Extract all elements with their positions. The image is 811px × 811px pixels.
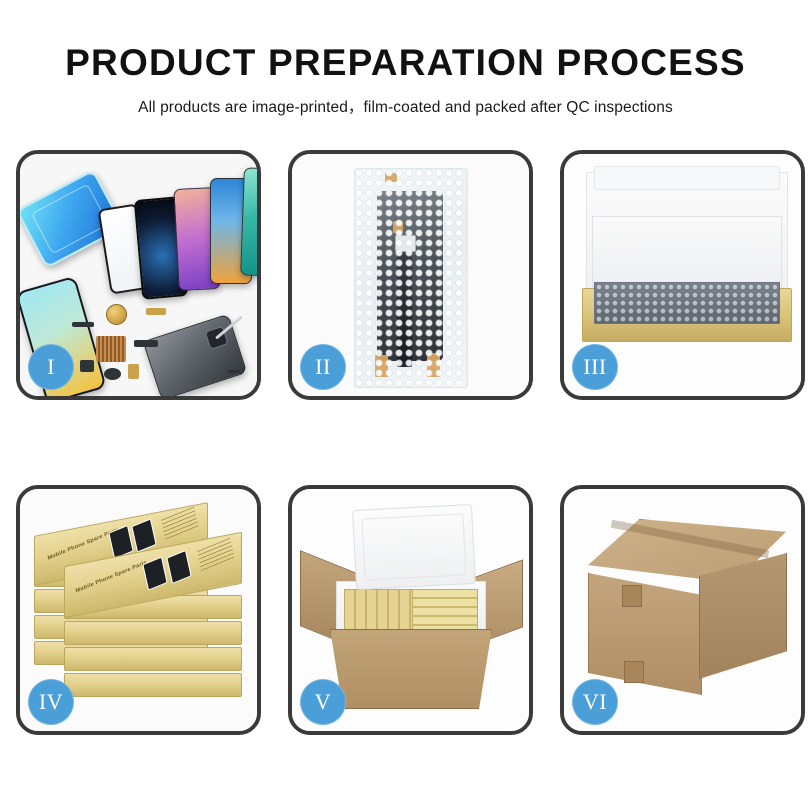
box-screen-image-c bbox=[142, 557, 167, 591]
box-screen-image-b bbox=[131, 518, 156, 552]
product-preparation-process-page: PRODUCT PREPARATION PROCESS All products… bbox=[0, 0, 811, 811]
box-spec-lines-rear bbox=[161, 507, 199, 543]
step-badge-1: I bbox=[28, 344, 74, 390]
bubble-texture bbox=[355, 169, 467, 387]
page-title: PRODUCT PREPARATION PROCESS bbox=[0, 44, 811, 83]
copper-shield-part bbox=[96, 336, 126, 362]
carton-tape-lower bbox=[624, 661, 644, 683]
step-badge-5: V bbox=[300, 679, 346, 725]
bubble-wrap-package bbox=[354, 168, 468, 388]
step-badge-2: II bbox=[300, 344, 346, 390]
page-header: PRODUCT PREPARATION PROCESS All products… bbox=[0, 0, 811, 117]
gold-box-stack-item bbox=[64, 647, 242, 671]
carton-tape-upper bbox=[622, 585, 642, 607]
phone-teal-wallpaper bbox=[240, 167, 257, 276]
step-panel-6: VI bbox=[560, 485, 805, 735]
step-badge-6: VI bbox=[572, 679, 618, 725]
gold-flex-part bbox=[146, 308, 166, 315]
step-panel-2: II bbox=[288, 150, 533, 400]
small-connector-part-1 bbox=[72, 322, 94, 327]
foam-lid bbox=[352, 504, 476, 590]
screw-part bbox=[228, 370, 240, 373]
gold-box-stack-item bbox=[64, 621, 242, 645]
bubble-wrapped-contents bbox=[594, 282, 780, 324]
step-panel-1: I bbox=[16, 150, 261, 400]
box-screen-image-d bbox=[166, 550, 191, 584]
step-panel-5: V bbox=[288, 485, 533, 735]
gold-box-stack-item bbox=[64, 673, 242, 697]
camera-module-part bbox=[80, 360, 94, 372]
box-lid-top-edge bbox=[594, 166, 780, 190]
box-spec-lines-front bbox=[197, 538, 235, 574]
step-badge-4: IV bbox=[28, 679, 74, 725]
speaker-module-part bbox=[106, 304, 127, 325]
process-steps-grid: I II bbox=[16, 150, 795, 735]
vibration-motor-part bbox=[104, 368, 121, 380]
battery-connector-part bbox=[128, 364, 139, 379]
gold-box-label-front: Mobile Phone Spare Parts bbox=[75, 560, 147, 595]
page-subtitle: All products are image-printed，film-coat… bbox=[0, 95, 811, 117]
step-panel-4: Mobile Phone Spare Parts Mobile Phone Sp… bbox=[16, 485, 261, 735]
carton-front-face bbox=[588, 573, 702, 695]
small-connector-part-2 bbox=[134, 340, 158, 347]
carton-body bbox=[330, 629, 492, 709]
step-panel-3: III bbox=[560, 150, 805, 400]
step-badge-3: III bbox=[572, 344, 618, 390]
